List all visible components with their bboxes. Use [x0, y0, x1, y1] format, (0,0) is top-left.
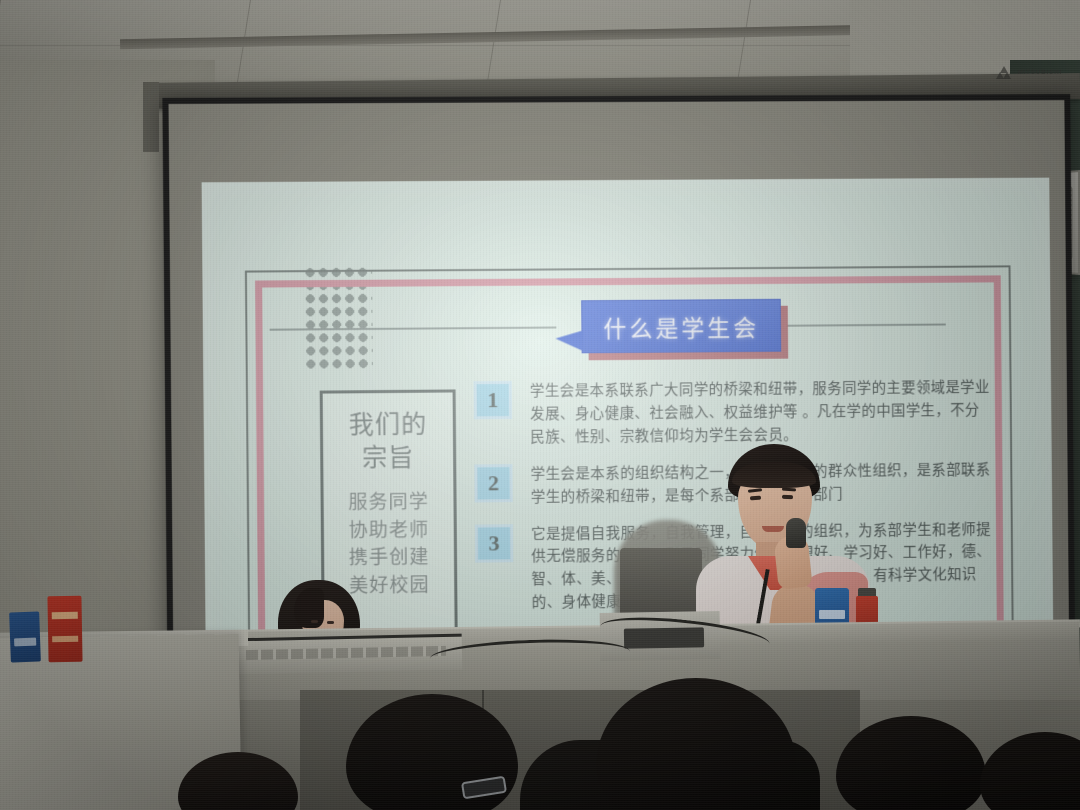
mitsubishi-triangles-icon — [996, 66, 1012, 78]
audience-head — [178, 752, 298, 810]
purpose-heading-line1: 我们的 — [349, 409, 428, 443]
presenter-fringe — [732, 462, 816, 488]
purpose-line: 携手创建 — [349, 544, 430, 573]
audience-foreground — [0, 610, 1080, 810]
slide-title-banner: 什么是学生会 — [581, 299, 811, 361]
screen-mount-bracket — [143, 82, 159, 152]
purpose-line: 服务同学 — [348, 489, 429, 517]
point-number-badge: 2 — [474, 464, 512, 502]
slide-title-text: 什么是学生会 — [603, 308, 759, 343]
audience-head — [596, 678, 796, 810]
projector-brand-plate: MITSUBISHI — [996, 66, 1062, 78]
point-number-badge: 3 — [475, 524, 513, 562]
audience-head — [980, 732, 1080, 810]
purpose-heading: 我们的 宗旨 — [349, 409, 428, 476]
purpose-line: 协助老师 — [348, 517, 429, 546]
title-banner-box: 什么是学生会 — [581, 299, 781, 353]
slide-point-item: 1 学生会是本系联系广大同学的桥梁和纽带，服务同学的主要领域是学业发展、身心健康… — [474, 377, 991, 450]
point-body-text: 学生会是本系联系广大同学的桥梁和纽带，服务同学的主要领域是学业发展、身心健康、社… — [530, 377, 991, 450]
purpose-heading-line2: 宗旨 — [349, 442, 428, 476]
projector-brand-label: MITSUBISHI — [1017, 69, 1062, 76]
presenter-mouth — [762, 526, 784, 532]
microphone-icon — [786, 518, 806, 548]
presenter-eye-right — [782, 495, 793, 499]
presenter-eye-left — [750, 496, 761, 501]
point-number-badge: 1 — [474, 381, 512, 419]
classroom-photo: MITSUBISHI 什么是学生会 — [0, 0, 1080, 810]
audience-head — [836, 716, 986, 810]
speech-bubble-tail-icon — [555, 330, 583, 351]
